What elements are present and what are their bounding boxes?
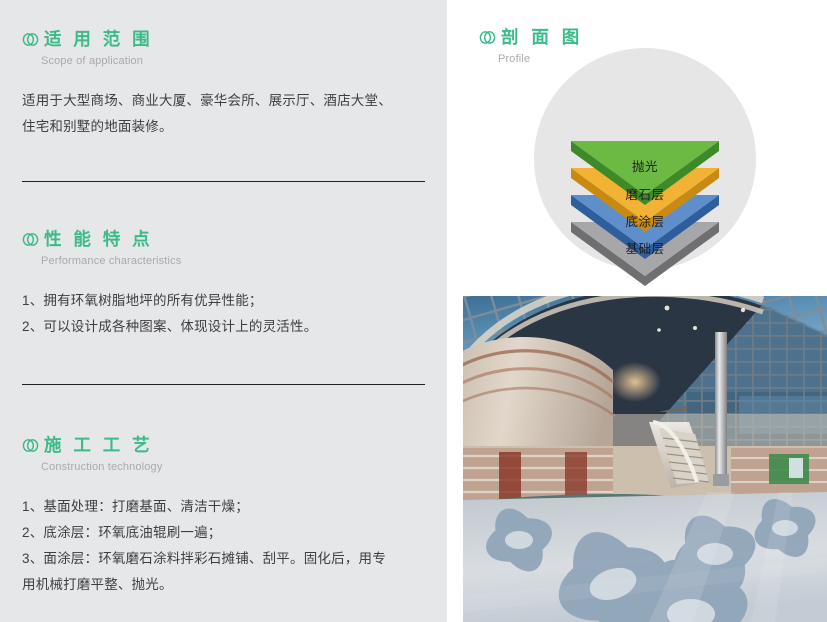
left-content-panel: 适 用 范 围 Scope of application 适用于大型商场、商业大… — [0, 0, 447, 622]
section-body: 适用于大型商场、商业大厦、豪华会所、展示厅、酒店大堂、 住宅和别墅的地面装修。 — [22, 88, 426, 140]
section-header: 剖 面 图 — [479, 26, 779, 48]
double-ring-icon — [22, 31, 39, 48]
body-line: 3、面涂层：环氧磨石涂料拌彩石摊铺、刮平。固化后，用专 — [22, 546, 426, 572]
section-title: 性 能 特 点 — [44, 228, 153, 250]
layer-label-primer: 底涂层 — [625, 215, 664, 229]
body-line: 2、底涂层：环氧底油辊刷一遍； — [22, 520, 426, 546]
section-divider — [22, 384, 425, 385]
double-ring-icon — [22, 231, 39, 248]
section-body: 1、拥有环氧树脂地坪的所有优异性能； 2、可以设计成各种图案、体现设计上的灵活性… — [22, 288, 426, 340]
section-scope-of-application: 适 用 范 围 Scope of application 适用于大型商场、商业大… — [22, 28, 426, 140]
section-title: 施 工 工 艺 — [44, 434, 153, 456]
body-line: 适用于大型商场、商业大厦、豪华会所、展示厅、酒店大堂、 — [22, 88, 426, 114]
layer-label-terrazzo: 磨石层 — [625, 188, 664, 202]
double-ring-icon — [479, 29, 496, 46]
section-construction-technology: 施 工 工 艺 Construction technology 1、基面处理：打… — [22, 434, 426, 598]
body-line: 1、基面处理：打磨基面、清洁干燥； — [22, 494, 426, 520]
atrium-photo — [463, 296, 827, 622]
section-performance-characteristics: 性 能 特 点 Performance characteristics 1、拥有… — [22, 228, 426, 340]
double-ring-icon — [22, 437, 39, 454]
section-title: 适 用 范 围 — [44, 28, 153, 50]
section-subtitle: Scope of application — [41, 54, 426, 68]
profile-diagram: 抛光 磨石层 底涂层 基础层 — [463, 47, 827, 287]
body-line: 1、拥有环氧树脂地坪的所有优异性能； — [22, 288, 426, 314]
section-divider — [22, 181, 425, 182]
section-header: 性 能 特 点 — [22, 228, 426, 250]
section-body: 1、基面处理：打磨基面、清洁干燥； 2、底涂层：环氧底油辊刷一遍； 3、面涂层：… — [22, 494, 426, 598]
section-subtitle: Construction technology — [41, 460, 426, 474]
section-header: 施 工 工 艺 — [22, 434, 426, 456]
section-subtitle: Performance characteristics — [41, 254, 426, 268]
body-line: 2、可以设计成各种图案、体现设计上的灵活性。 — [22, 314, 426, 340]
section-title: 剖 面 图 — [501, 26, 583, 48]
body-line: 用机械打磨平整、抛光。 — [22, 572, 426, 598]
section-header: 适 用 范 围 — [22, 28, 426, 50]
right-content-column: 剖 面 图 Profile — [447, 0, 827, 622]
layer-label-base: 基础层 — [625, 242, 664, 256]
layer-label-polish: 抛光 — [632, 160, 658, 174]
body-line: 住宅和别墅的地面装修。 — [22, 114, 426, 140]
